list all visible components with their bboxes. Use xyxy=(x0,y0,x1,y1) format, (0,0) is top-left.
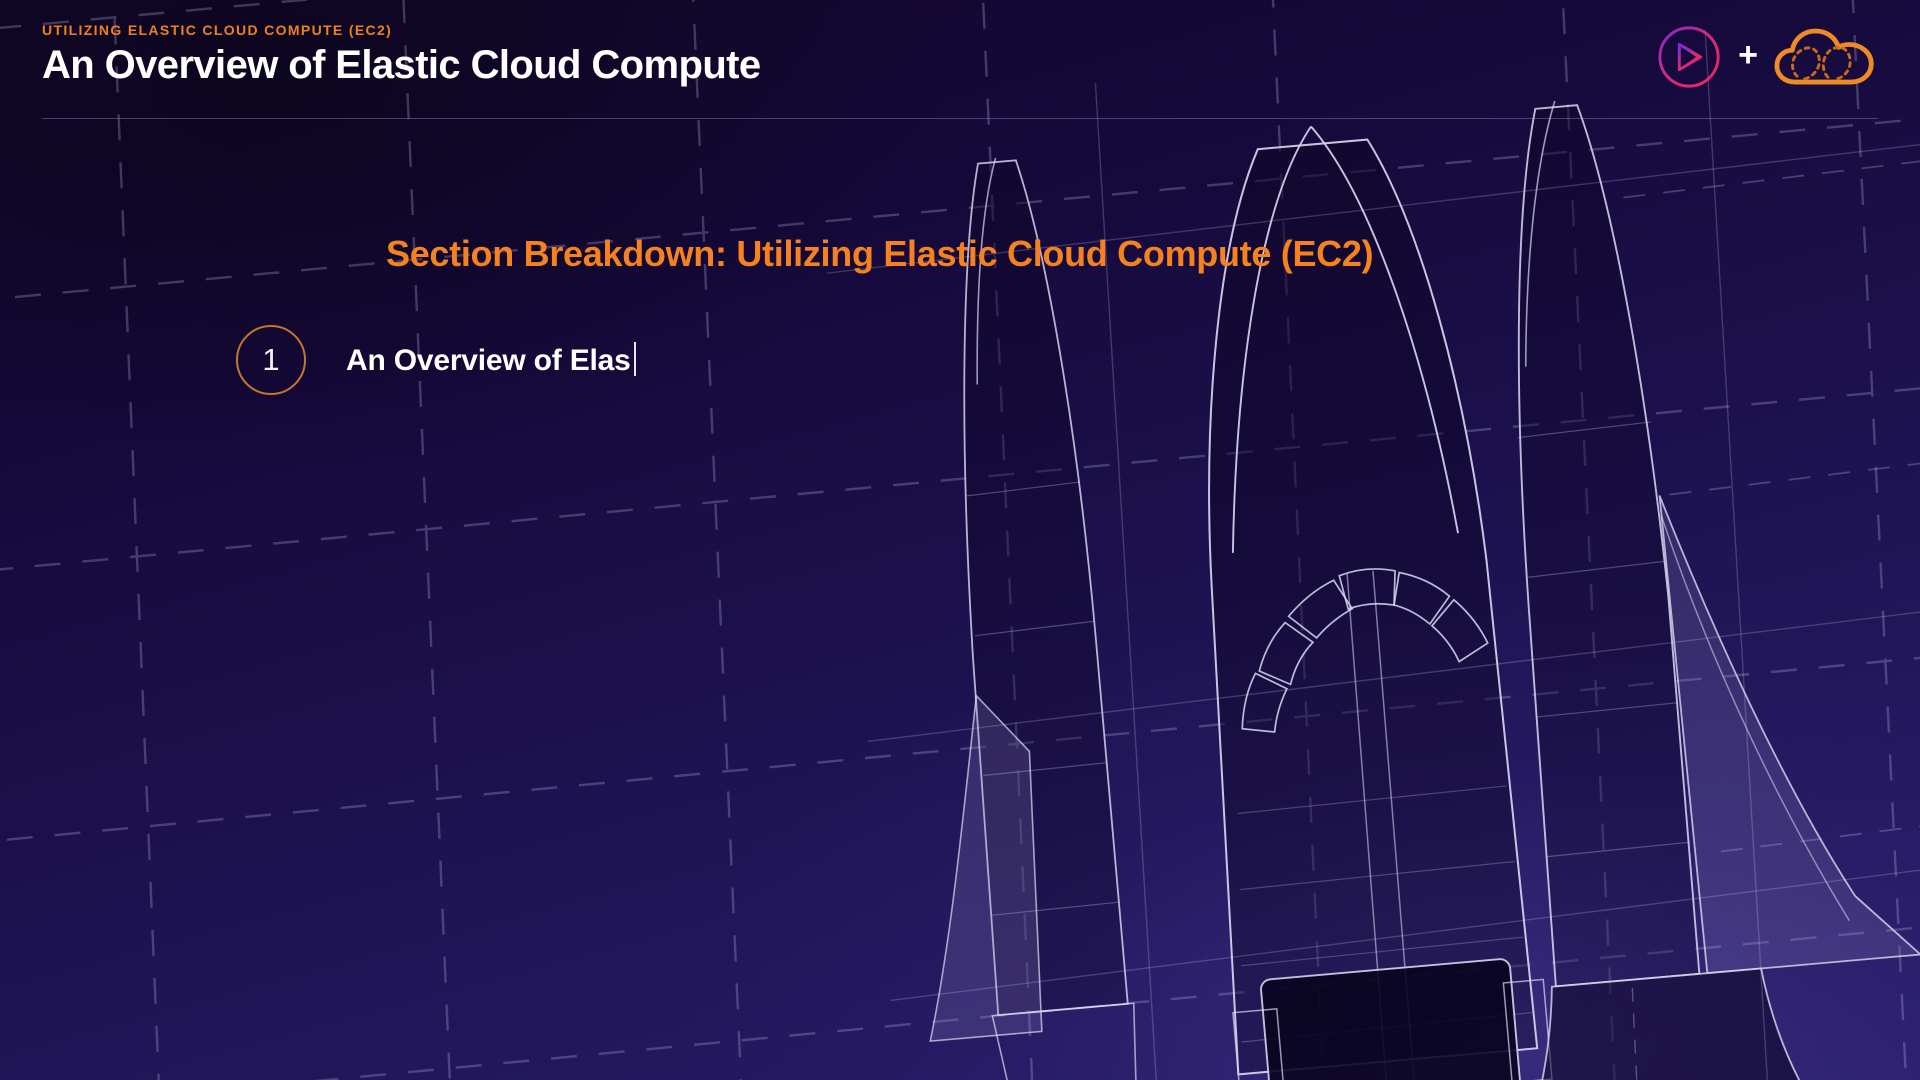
section-breakdown-title: Section Breakdown: Utilizing Elastic Clo… xyxy=(386,233,1373,275)
agenda-item-label: An Overview of Elas xyxy=(346,344,631,377)
slide-root: UTILIZING ELASTIC CLOUD COMPUTE (EC2) An… xyxy=(0,0,1920,1080)
text-caret xyxy=(634,342,636,376)
agenda-item: 1 An Overview of Elas xyxy=(236,325,636,395)
agenda-item-label-wrap: An Overview of Elas xyxy=(346,342,636,378)
slide-body: Section Breakdown: Utilizing Elastic Clo… xyxy=(0,0,1920,1080)
agenda-number-badge: 1 xyxy=(236,325,306,395)
agenda-number: 1 xyxy=(262,344,279,375)
